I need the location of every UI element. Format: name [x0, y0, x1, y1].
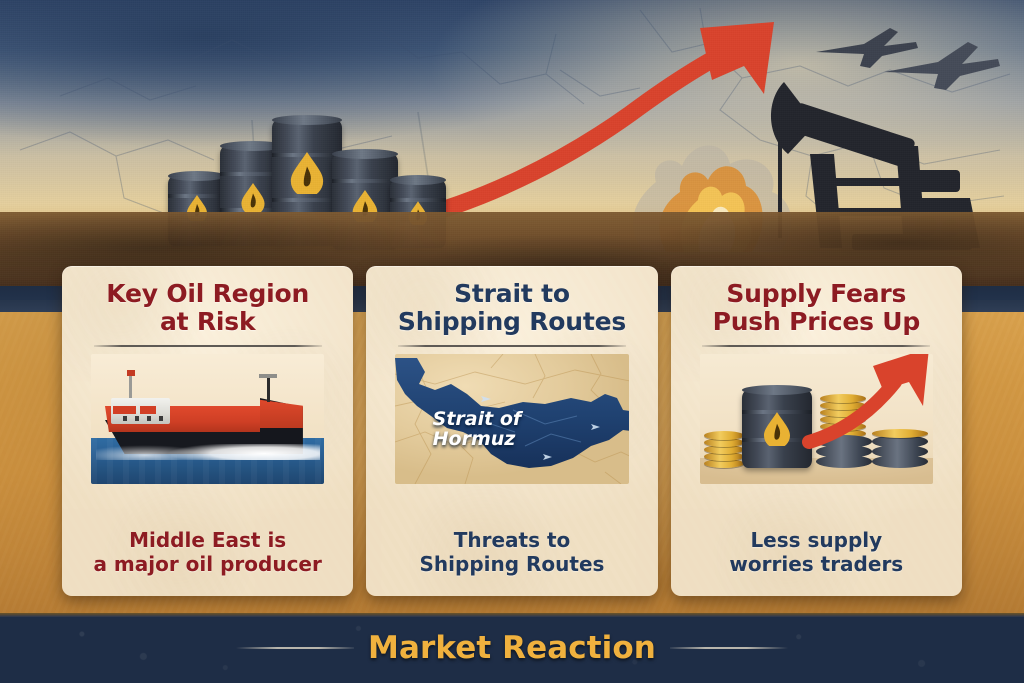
card-caption: Middle East is a major oil producer [93, 528, 321, 586]
card-title: Supply Fears Push Prices Up [713, 280, 920, 336]
card-caption: Less supply worries traders [729, 528, 903, 586]
card-supply-fears[interactable]: Supply Fears Push Prices Up [671, 266, 962, 596]
card-strait-shipping[interactable]: Strait to Shipping Routes [366, 266, 657, 596]
coin-stack [704, 426, 744, 468]
card-caption-line1: Less supply [729, 528, 903, 552]
oil-drop-icon [764, 412, 790, 446]
map-label: Strait of Hormuz [433, 409, 522, 449]
fighter-jet-icon [880, 32, 1004, 94]
card-divider [94, 345, 322, 347]
hero-illustration [0, 0, 1024, 300]
card-title-line2: Shipping Routes [398, 308, 626, 336]
map-icon: Strait of Hormuz [395, 354, 628, 484]
card-divider [702, 345, 930, 347]
price-up-icon [700, 354, 933, 484]
footer-title: Market Reaction [368, 630, 656, 666]
card-title: Key Oil Region at Risk [106, 280, 309, 336]
card-divider [398, 345, 626, 347]
card-title-line1: Strait to [398, 280, 626, 308]
map-label-line2: Hormuz [433, 429, 522, 449]
card-title: Strait to Shipping Routes [398, 280, 626, 336]
card-caption-line1: Threats to [420, 528, 605, 552]
map-label-line1: Strait of [433, 409, 522, 429]
card-title-line2: Push Prices Up [713, 308, 920, 336]
card-key-oil-region[interactable]: Key Oil Region at Risk [62, 266, 353, 596]
footer-rule-left [236, 647, 354, 649]
footer-rule-right [670, 647, 788, 649]
ship-wake [96, 444, 320, 460]
oil-drop-icon [241, 183, 265, 213]
oil-drop-icon [290, 152, 324, 194]
card-row: Key Oil Region at Risk [62, 266, 962, 596]
ship-icon [91, 354, 324, 484]
infographic-canvas: Key Oil Region at Risk [0, 0, 1024, 683]
card-title-line2: at Risk [106, 308, 309, 336]
card-caption-line2: Shipping Routes [420, 552, 605, 576]
card-caption-line2: worries traders [729, 552, 903, 576]
card-caption-line2: a major oil producer [93, 552, 321, 576]
footer-banner: Market Reaction [0, 613, 1024, 683]
card-caption: Threats to Shipping Routes [420, 528, 605, 586]
card-caption-line1: Middle East is [93, 528, 321, 552]
card-title-line1: Key Oil Region [106, 280, 309, 308]
rising-red-arrow-icon [799, 354, 933, 452]
card-title-line1: Supply Fears [713, 280, 920, 308]
